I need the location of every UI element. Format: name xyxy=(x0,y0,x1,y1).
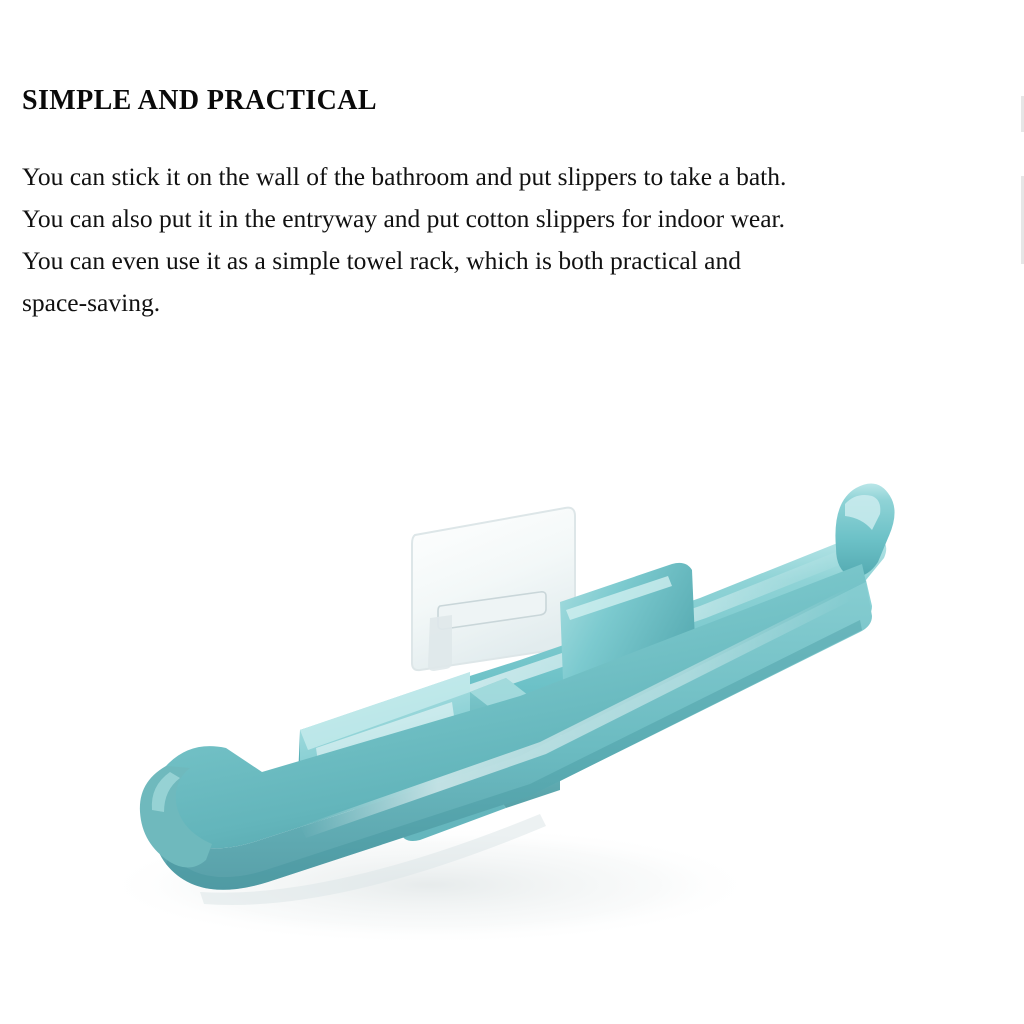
paragraph-line-3: You can even use it as a simple towel ra… xyxy=(22,240,982,282)
adhesive-mounting-pad xyxy=(412,508,575,671)
paragraph-line-2: You can also put it in the entryway and … xyxy=(22,198,982,240)
paragraph-line-4: space-saving. xyxy=(22,282,982,324)
page-root: SIMPLE AND PRACTICAL You can stick it on… xyxy=(0,0,1024,1024)
text-block: SIMPLE AND PRACTICAL You can stick it on… xyxy=(22,84,982,324)
product-image xyxy=(0,430,1024,990)
paragraph-line-1: You can stick it on the wall of the bath… xyxy=(22,156,982,198)
description-paragraph: You can stick it on the wall of the bath… xyxy=(22,156,982,324)
product-illustration xyxy=(0,430,1024,990)
section-heading: SIMPLE AND PRACTICAL xyxy=(22,84,982,118)
